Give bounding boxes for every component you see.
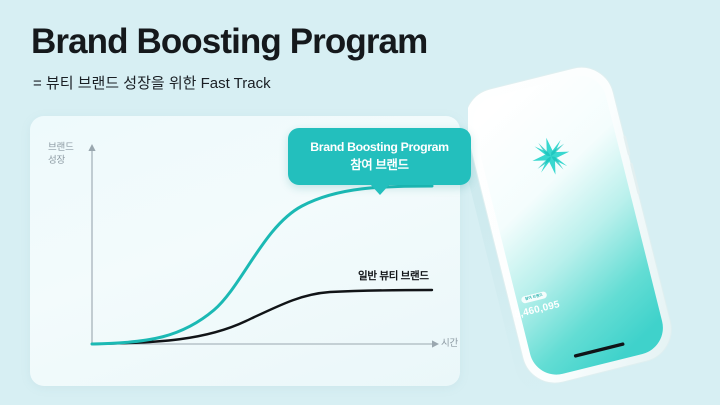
y-axis-label-line2: 성장 <box>48 155 74 168</box>
callout-line2: 참여 브랜드 <box>350 155 408 173</box>
page-subtitle: = 뷰티 브랜드 성장을 위한 Fast Track <box>33 72 271 93</box>
phone-mockup <box>468 50 720 405</box>
slide-canvas: Brand Boosting Program = 뷰티 브랜드 성장을 위한 F… <box>0 0 720 405</box>
x-axis-arrow-icon <box>432 340 439 347</box>
pointer-tail-icon <box>370 184 390 195</box>
x-axis-label: 시간 <box>441 338 458 351</box>
series-line-boosting <box>92 186 432 344</box>
y-axis-arrow-icon <box>88 144 95 151</box>
y-axis-label-line1: 브랜드 <box>48 142 74 155</box>
y-axis-label: 브랜드 성장 <box>48 142 74 168</box>
phone-illustration <box>468 50 720 405</box>
phone-body <box>468 60 680 390</box>
series-line-general <box>92 290 432 344</box>
page-title: Brand Boosting Program <box>31 22 427 62</box>
callout-line1: Brand Boosting Program <box>310 140 449 154</box>
series-label-general: 일반 뷰티 브랜드 <box>358 268 429 283</box>
callout-bubble: Brand Boosting Program 참여 브랜드 <box>288 128 471 185</box>
